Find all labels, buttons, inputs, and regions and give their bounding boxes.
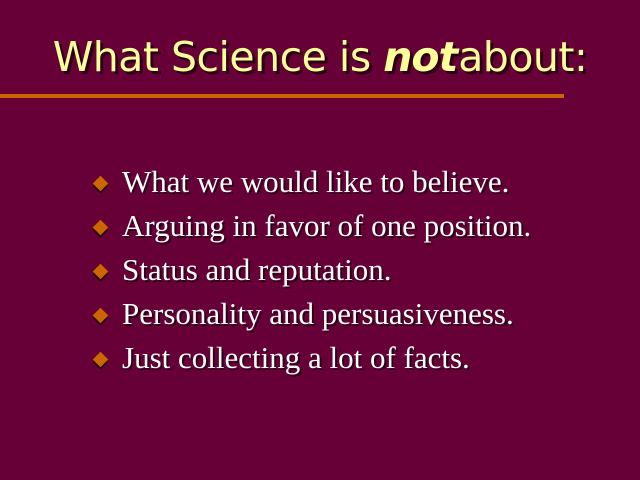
list-item: Status and reputation. — [90, 248, 610, 292]
diamond-bullet-icon — [93, 176, 109, 192]
page-title: What Science is notabout: — [0, 30, 640, 84]
list-item-label: Arguing in favor of one position. — [122, 208, 531, 244]
title-text-after-italic: about: — [458, 33, 587, 81]
list-item-label: Personality and persuasiveness. — [122, 296, 514, 332]
list-item-label: What we would like to believe. — [122, 164, 509, 200]
list-item: Just collecting a lot of facts. — [90, 336, 610, 380]
diamond-bullet-icon — [93, 308, 109, 324]
list-item-label: Status and reputation. — [122, 252, 391, 288]
list-item: What we would like to believe. — [90, 160, 610, 204]
diamond-bullet-icon — [93, 352, 109, 368]
diamond-bullet-icon — [93, 220, 109, 236]
list-item: Personality and persuasiveness. — [90, 292, 610, 336]
title-block: What Science is notabout: — [0, 30, 640, 92]
presentation-slide: What Science is notabout: What we would … — [0, 0, 640, 480]
diamond-bullet-icon — [93, 264, 109, 280]
list-item: Arguing in favor of one position. — [90, 204, 610, 248]
list-item-label: Just collecting a lot of facts. — [122, 340, 470, 376]
title-divider — [0, 94, 564, 98]
bullet-list: What we would like to believe. Arguing i… — [90, 160, 610, 380]
title-emphasis-not: not — [383, 33, 458, 81]
title-text-before-italic: What Science is — [53, 33, 384, 81]
